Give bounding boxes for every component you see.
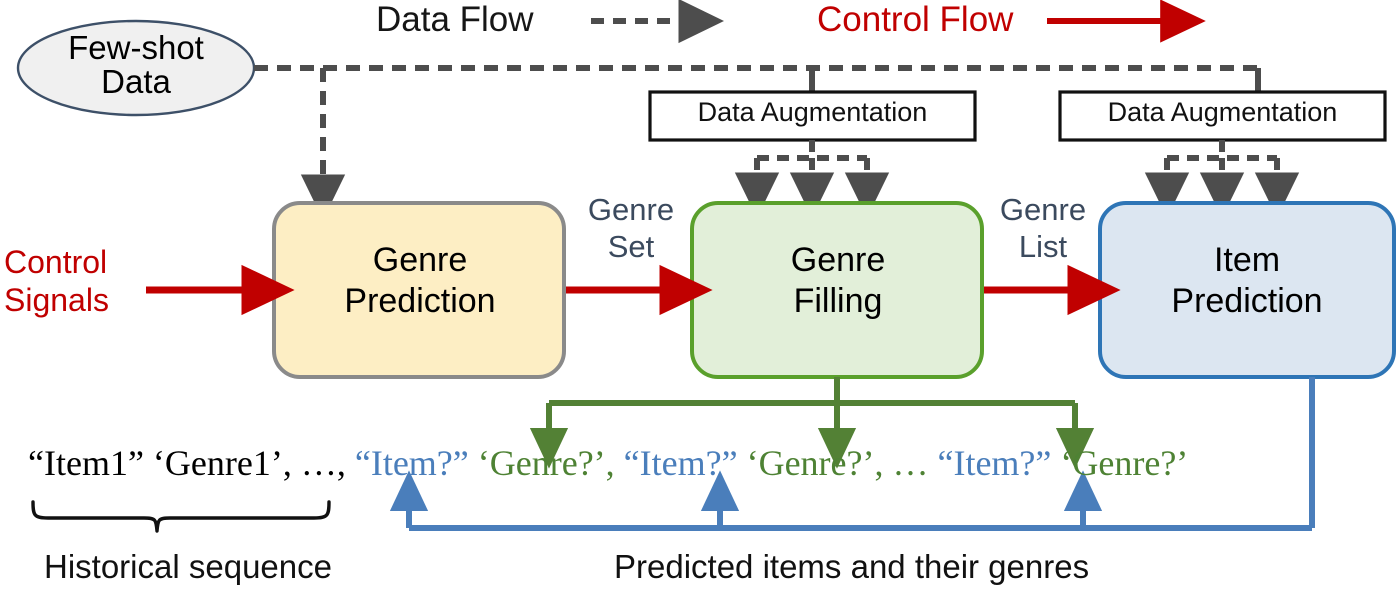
control-signals-line1: Control [4, 244, 107, 280]
augmentation-right-label: Data Augmentation [1060, 98, 1385, 126]
edge-label-genre-list-line1: Genre [1000, 192, 1086, 227]
stage-genre-prediction-line2: Prediction [344, 282, 495, 320]
edge-label-genre-set-line1: Genre [588, 192, 674, 227]
few-shot-data-line1: Few-shot [68, 29, 204, 66]
few-shot-data-line2: Data [101, 63, 171, 100]
stage-genre-filling-line2: Filling [794, 282, 883, 320]
stage-genre-prediction-line1: Genre [373, 241, 468, 279]
sequence-token: ‘Genre?’, … [747, 442, 938, 484]
control-signals-line2: Signals [4, 282, 109, 318]
sequence-token: ‘Genre?’ [1060, 442, 1188, 484]
edge-label-genre-set: Genre Set [566, 192, 696, 265]
stage-genre-filling-line1: Genre [791, 241, 886, 279]
stage-item-prediction-label: Item Prediction [1102, 240, 1392, 323]
edge-label-genre-set-line2: Set [608, 229, 655, 264]
sequence-token: “Item?” [937, 442, 1060, 484]
augmentation-right-fanout [1167, 140, 1277, 194]
sequence-token: “Item?” [624, 442, 747, 484]
stage-genre-prediction-label: Genre Prediction [276, 240, 564, 323]
augmentation-left-label: Data Augmentation [650, 98, 975, 126]
historical-sequence-brace [33, 502, 329, 531]
augmentation-left-fanout [757, 140, 867, 194]
stage-genre-filling-label: Genre Filling [695, 240, 981, 323]
edge-label-genre-list: Genre List [978, 192, 1108, 265]
token-sequence: “Item1” ‘Genre1’, …, “Item?” ‘Genre?’, “… [28, 442, 1188, 486]
few-shot-data-label: Few-shot Data [26, 31, 246, 100]
stage-item-prediction-line1: Item [1214, 241, 1280, 279]
legend-control-flow-label: Control Flow [817, 2, 1013, 38]
control-signals-label: Control Signals [4, 243, 144, 320]
edge-label-genre-list-line2: List [1019, 229, 1067, 264]
predicted-items-caption: Predicted items and their genres [614, 550, 1089, 584]
sequence-token: ‘Genre?’, [478, 442, 624, 484]
genre-filling-output-arrows [549, 377, 1075, 447]
stage-item-prediction-line2: Prediction [1171, 282, 1322, 320]
diagram-canvas: Data Flow Control Flow Few-shot Data Dat… [0, 0, 1398, 599]
historical-sequence-caption: Historical sequence [44, 550, 332, 584]
sequence-token: “Item?” [355, 442, 478, 484]
legend-data-flow-label: Data Flow [376, 2, 534, 38]
sequence-token: “Item1” ‘Genre1’, …, [28, 442, 355, 484]
